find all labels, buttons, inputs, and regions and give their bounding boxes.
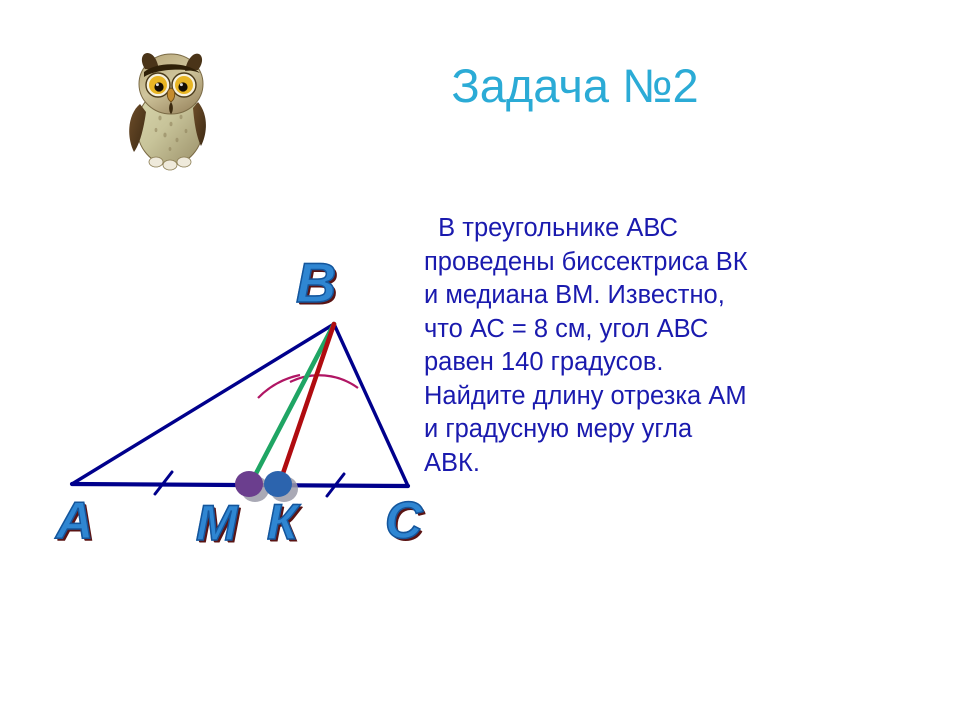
point-M	[235, 471, 263, 497]
problem-line: равен 140 градусов.	[424, 346, 844, 380]
vertex-label-K: К	[267, 497, 298, 547]
vertex-label-C: С	[385, 495, 423, 547]
problem-line: В треугольнике АВС	[424, 212, 844, 246]
owl-icon	[118, 32, 218, 182]
problem-line: и медиана ВМ. Известно,	[424, 279, 844, 313]
problem-line: Найдите длину отрезка АМ	[424, 380, 844, 414]
problem-statement: В треугольнике АВС проведены биссектриса…	[424, 212, 844, 480]
bisector-BK	[279, 324, 334, 485]
problem-line: проведены биссектриса ВК	[424, 246, 844, 280]
vertex-label-M: М	[196, 498, 238, 548]
problem-line: что АС = 8 см, угол АВС	[424, 313, 844, 347]
triangle-sides	[72, 324, 408, 486]
vertex-label-A: А	[56, 495, 94, 547]
angle-arc-left	[258, 375, 300, 398]
problem-line: АВК.	[424, 447, 844, 481]
vertex-label-B: В	[296, 255, 336, 311]
slide-canvas: Задача №2	[0, 0, 960, 720]
page-title: Задача №2	[360, 58, 790, 113]
segment-BC	[334, 324, 408, 486]
problem-line: и градусную меру угла	[424, 413, 844, 447]
